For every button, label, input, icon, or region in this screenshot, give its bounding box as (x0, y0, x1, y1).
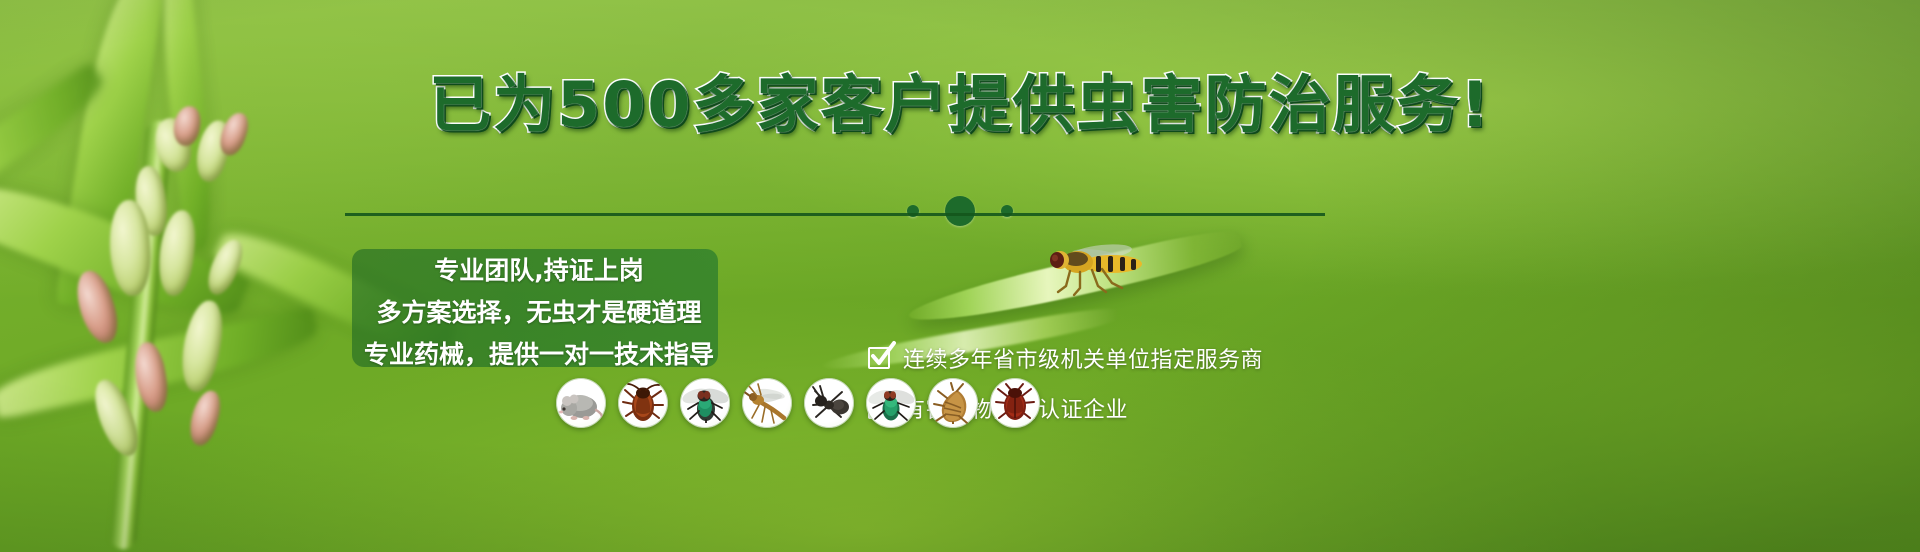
pest-icon-row: 鼠 蟑螂 (556, 378, 1040, 428)
fly-icon[interactable]: 苍蝇 (680, 378, 730, 428)
blowfly-icon[interactable]: 绿头蝇 (866, 378, 916, 428)
dot-large-center-icon (945, 196, 975, 226)
headline-text: 已为500多家客户提供虫害防治服务! (429, 74, 1491, 136)
mosquito-icon[interactable]: 蚊子 (742, 378, 792, 428)
checkbox-checked-icon (868, 347, 890, 369)
list-item: 连续多年省市级机关单位指定服务商 (868, 342, 1263, 374)
info-line-2: 多方案选择，无虫才是硬道理 (344, 293, 734, 329)
decorative-dots (0, 196, 1920, 226)
info-line-1: 专业团队,持证上岗 (344, 251, 734, 287)
info-box-text-group: 专业团队,持证上岗 多方案选择，无虫才是硬道理 专业药械，提供一对一技术指导 (344, 213, 734, 373)
cockroach-icon[interactable]: 蟑螂 (618, 378, 668, 428)
mouse-icon[interactable]: 鼠 (556, 378, 606, 428)
flea-icon[interactable]: 跳蚤 (928, 378, 978, 428)
bullet-label: 连续多年省市级机关单位指定服务商 (903, 342, 1263, 374)
page-title: 已为500多家客户提供虫害防治服务! (0, 74, 1920, 136)
pest-control-banner: 已为500多家客户提供虫害防治服务! 专业团队,持证上岗 多方案选择，无虫才是硬… (0, 0, 1920, 552)
bedbug-icon[interactable]: 臭虫 (990, 378, 1040, 428)
info-line-3: 专业药械，提供一对一技术指导 (344, 335, 734, 371)
ant-icon[interactable]: 蚂蚁 (804, 378, 854, 428)
